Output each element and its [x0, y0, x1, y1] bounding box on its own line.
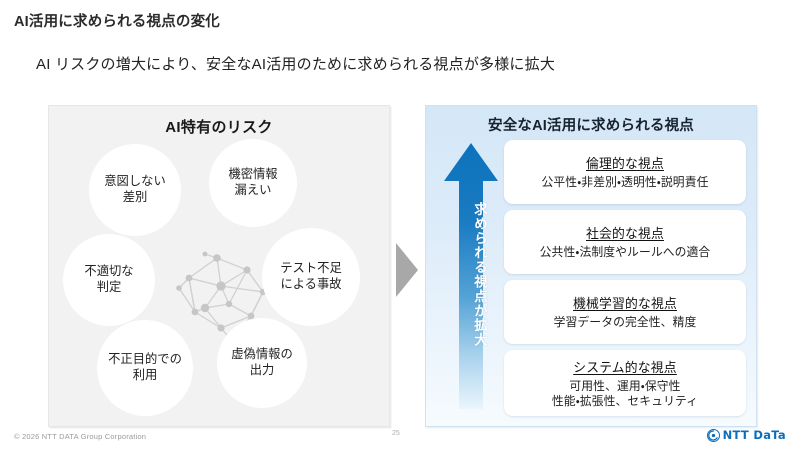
nttdata-logo: NTT DaTa [707, 428, 786, 442]
viewpoint-card-body-line1: 可用性、運用・保守性 [569, 379, 680, 393]
left-panel-title: AI特有のリスク [49, 116, 389, 137]
nttdata-mark-icon [707, 429, 720, 442]
viewpoint-card-title: システム的な視点 [573, 357, 677, 376]
page-title: AI活用に求められる視点の変化 [14, 10, 220, 31]
viewpoint-card-list: 倫理的な視点 公平性・非差別・透明性・説明責任 社会的な視点 公共性・法制度やル… [504, 140, 746, 416]
viewpoint-card: 社会的な視点 公共性・法制度やルールへの適合 [504, 210, 746, 274]
viewpoint-card: 倫理的な視点 公平性・非差別・透明性・説明責任 [504, 140, 746, 204]
risk-bubble-line1: 不正目的での [108, 352, 182, 366]
right-panel-title: 安全なAI活用に求められる視点 [426, 114, 756, 135]
risk-bubble: 不正目的での 利用 [97, 320, 193, 416]
risk-bubble-line2: 判定 [97, 280, 122, 294]
risk-bubble: テスト不足 による事故 [262, 228, 360, 326]
copyright-text: © 2026 NTT DATA Group Corporation [14, 432, 146, 441]
viewpoint-card-body: 公共性・法制度やルールへの適合 [540, 245, 711, 260]
risk-bubble: 機密情報 漏えい [209, 139, 297, 227]
risk-bubble: 不適切な 判定 [63, 234, 155, 326]
viewpoint-card-title: 社会的な視点 [586, 223, 664, 242]
slide-canvas: AI活用に求められる視点の変化 AI リスクの増大により、安全なAI活用のために… [0, 0, 800, 450]
viewpoint-card-title: 機械学習的な視点 [573, 293, 677, 312]
nttdata-logo-text: NTT DaTa [723, 428, 786, 442]
risk-bubble-line2: 差別 [123, 190, 148, 204]
viewpoint-card-body-line1: 学習データの完全性、精度 [554, 315, 697, 329]
risk-bubble-line2: 利用 [133, 368, 158, 382]
viewpoint-card-body: 可用性、運用・保守性 性能・拡張性、セキュリティ [552, 379, 698, 410]
right-chevron-icon [396, 243, 418, 297]
page-subtitle: AI リスクの増大により、安全なAI活用のために求められる視点が多様に拡大 [36, 53, 555, 74]
viewpoint-card: 機械学習的な視点 学習データの完全性、精度 [504, 280, 746, 344]
right-panel-required-viewpoints: 安全なAI活用に求められる視点 求められる視点が拡大 倫理的な視点 [425, 105, 757, 427]
risk-bubble: 虚偽情報の 出力 [217, 318, 307, 408]
left-panel-ai-risks: AI特有のリスク [48, 105, 390, 427]
risk-bubble-line1: テスト不足 [280, 261, 342, 275]
risk-bubble-line2: 漏えい [235, 183, 272, 197]
risk-bubble-line1: 機密情報 [228, 167, 277, 181]
risk-bubble-line1: 虚偽情報の [231, 347, 293, 361]
viewpoint-card-body-line2: 性能・拡張性、セキュリティ [552, 394, 698, 408]
viewpoint-card: システム的な視点 可用性、運用・保守性 性能・拡張性、セキュリティ [504, 350, 746, 416]
risk-bubble-line2: による事故 [280, 277, 341, 291]
up-arrow-label: 求められる視点が拡大 [456, 202, 486, 347]
page-number: 25 [392, 430, 400, 437]
risk-bubble-line1: 意図しない [104, 174, 166, 188]
viewpoint-card-body: 公平性・非差別・透明性・説明責任 [542, 175, 709, 190]
viewpoint-card-body-line1: 公平性・非差別・透明性・説明責任 [542, 175, 709, 189]
viewpoint-card-body: 学習データの完全性、精度 [554, 315, 697, 330]
risk-bubble: 意図しない 差別 [89, 144, 181, 236]
risk-bubble-line1: 不適切な [84, 264, 133, 278]
risk-bubble-line2: 出力 [250, 363, 275, 377]
viewpoint-card-title: 倫理的な視点 [586, 153, 664, 172]
viewpoint-card-body-line1: 公共性・法制度やルールへの適合 [540, 245, 711, 259]
